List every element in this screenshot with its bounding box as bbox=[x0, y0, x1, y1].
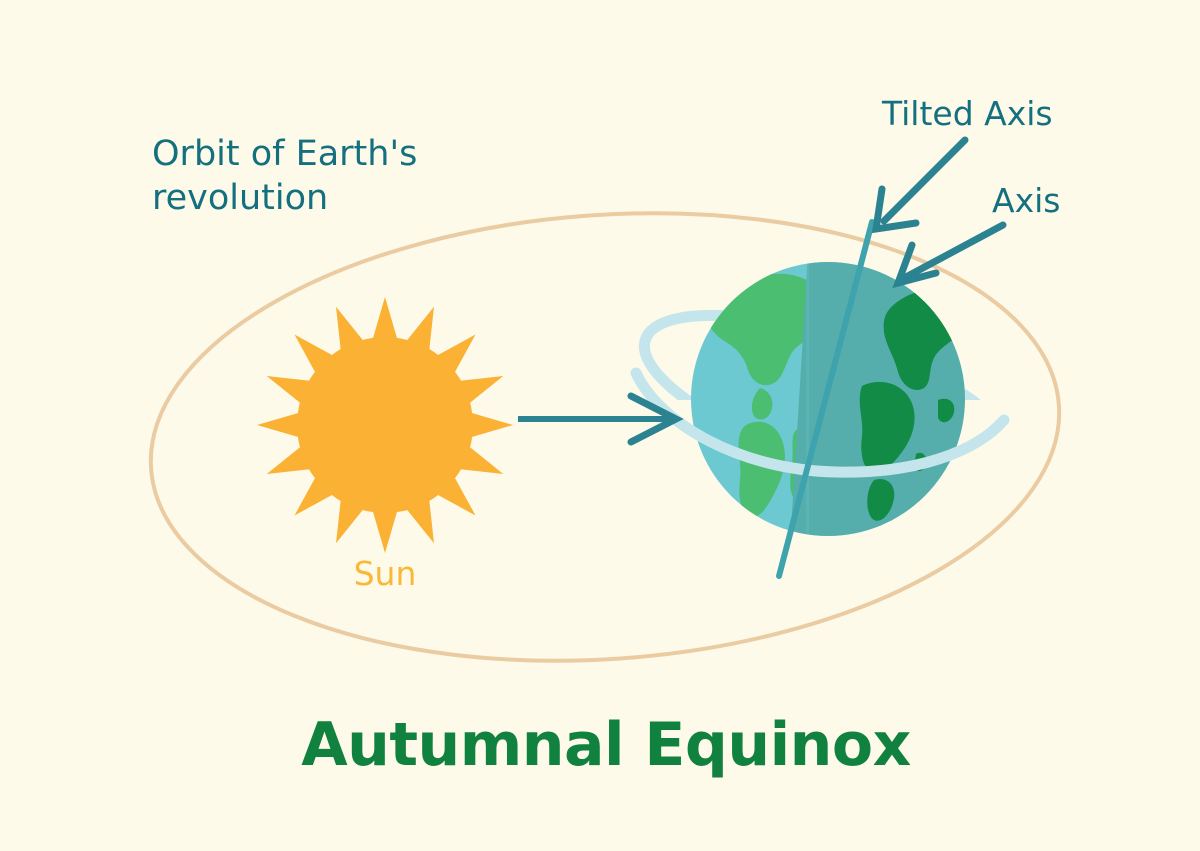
orbit-label-line1: Orbit of Earth's bbox=[152, 134, 417, 174]
autumnal-equinox-diagram: Orbit of Earth's revolution Tilted Axis … bbox=[0, 0, 1200, 851]
sun-graphic bbox=[257, 297, 513, 553]
page-title: Autumnal Equinox bbox=[301, 710, 911, 780]
diagram-canvas: Orbit of Earth's revolution Tilted Axis … bbox=[0, 0, 1200, 851]
axis-label: Axis bbox=[992, 181, 1060, 220]
orbit-label-line2: revolution bbox=[152, 178, 328, 218]
sun-label: Sun bbox=[354, 554, 417, 593]
sun-disc bbox=[297, 337, 473, 513]
tilted-axis-label: Tilted Axis bbox=[881, 94, 1053, 133]
terminator-line bbox=[806, 255, 809, 545]
